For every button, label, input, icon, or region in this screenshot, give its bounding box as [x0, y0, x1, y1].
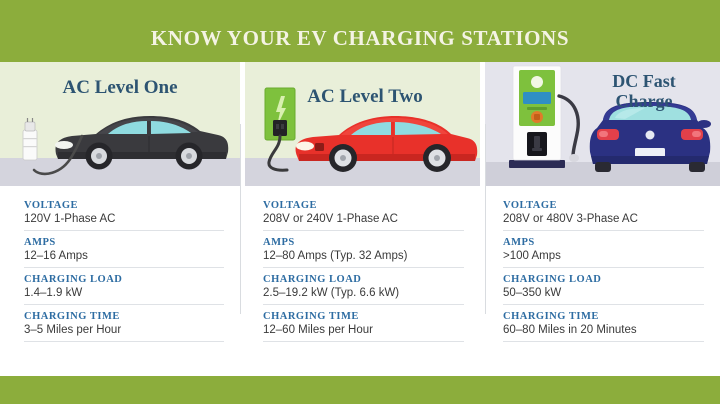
spec-value-charging-load: 1.4–1.9 kW [24, 287, 224, 299]
spec-value-charging-time: 60–80 Miles in 20 Minutes [503, 324, 704, 336]
illustration-dc-fast-charge: DC Fast Charge [485, 62, 720, 186]
spec-value-charging-load: 2.5–19.2 kW (Typ. 6.6 kW) [263, 287, 464, 299]
spec-label-amps: AMPS [24, 237, 224, 248]
spec-label-voltage: VOLTAGE [503, 200, 704, 211]
spec-value-amps: >100 Amps [503, 250, 704, 262]
spec-row-charging-load: CHARGING LOAD 1.4–1.9 kW [24, 274, 224, 305]
spec-label-charging-load: CHARGING LOAD [24, 274, 224, 285]
spec-label-charging-time: CHARGING TIME [503, 311, 704, 322]
spec-row-charging-time: CHARGING TIME 60–80 Miles in 20 Minutes [503, 311, 704, 342]
column-divider-right [485, 124, 486, 314]
spec-value-charging-time: 12–60 Miles per Hour [263, 324, 464, 336]
spec-value-voltage: 120V 1-Phase AC [24, 213, 224, 225]
spec-row-charging-time: CHARGING TIME 12–60 Miles per Hour [263, 311, 464, 342]
spec-row-voltage: VOLTAGE 208V or 480V 3-Phase AC [503, 200, 704, 231]
specs-ac-level-one: VOLTAGE 120V 1-Phase AC AMPS 12–16 Amps … [0, 186, 240, 376]
spec-value-amps: 12–80 Amps (Typ. 32 Amps) [263, 250, 464, 262]
spec-label-charging-load: CHARGING LOAD [263, 274, 464, 285]
spec-value-amps: 12–16 Amps [24, 250, 224, 262]
spec-label-amps: AMPS [263, 237, 464, 248]
spec-row-amps: AMPS 12–80 Amps (Typ. 32 Amps) [263, 237, 464, 268]
specs-dc-fast-charge: VOLTAGE 208V or 480V 3-Phase AC AMPS >10… [485, 186, 720, 376]
spec-row-amps: AMPS 12–16 Amps [24, 237, 224, 268]
spec-label-amps: AMPS [503, 237, 704, 248]
column-ac-level-one: AC Level One VOLTAGE 120V 1-Phase AC AMP… [0, 62, 240, 376]
spec-row-voltage: VOLTAGE 120V 1-Phase AC [24, 200, 224, 231]
illustration-ac-level-one: AC Level One [0, 62, 240, 186]
panel-title-line-1: DC Fast [612, 71, 676, 91]
panel-title-ac-level-one: AC Level One [0, 78, 240, 99]
car-illustration-red-hatchback [287, 110, 479, 174]
charging-cable-icon [28, 126, 88, 178]
column-divider-left [240, 124, 241, 314]
spec-row-charging-load: CHARGING LOAD 50–350 kW [503, 274, 704, 305]
spec-value-voltage: 208V or 240V 1-Phase AC [263, 213, 464, 225]
dc-fast-charger-kiosk-icon [503, 64, 587, 172]
specs-ac-level-two: VOLTAGE 208V or 240V 1-Phase AC AMPS 12–… [245, 186, 480, 376]
spec-label-charging-load: CHARGING LOAD [503, 274, 704, 285]
footer-bar [0, 376, 720, 404]
spec-row-voltage: VOLTAGE 208V or 240V 1-Phase AC [263, 200, 464, 231]
spec-row-amps: AMPS >100 Amps [503, 237, 704, 268]
spec-value-voltage: 208V or 480V 3-Phase AC [503, 213, 704, 225]
ev-charging-infographic: KNOW YOUR EV CHARGING STATIONS [0, 0, 720, 404]
page-title: KNOW YOUR EV CHARGING STATIONS [0, 26, 720, 51]
spec-label-voltage: VOLTAGE [24, 200, 224, 211]
spec-label-charging-time: CHARGING TIME [263, 311, 464, 322]
panel-title-ac-level-two: AC Level Two [245, 87, 480, 108]
column-dc-fast-charge: DC Fast Charge VOLTAGE 208V or 480V 3-Ph… [480, 62, 720, 376]
spec-row-charging-load: CHARGING LOAD 2.5–19.2 kW (Typ. 6.6 kW) [263, 274, 464, 305]
panel-title-line-2: Charge [616, 91, 673, 111]
illustration-ac-level-two: AC Level Two [245, 62, 480, 186]
spec-value-charging-time: 3–5 Miles per Hour [24, 324, 224, 336]
spec-row-charging-time: CHARGING TIME 3–5 Miles per Hour [24, 311, 224, 342]
spec-label-voltage: VOLTAGE [263, 200, 464, 211]
column-ac-level-two: AC Level Two VOLTAGE 208V or 240V 1-Phas… [240, 62, 480, 376]
columns-container: AC Level One VOLTAGE 120V 1-Phase AC AMP… [0, 62, 720, 376]
panel-title-dc-fast-charge: DC Fast Charge [579, 72, 709, 112]
spec-value-charging-load: 50–350 kW [503, 287, 704, 299]
spec-label-charging-time: CHARGING TIME [24, 311, 224, 322]
